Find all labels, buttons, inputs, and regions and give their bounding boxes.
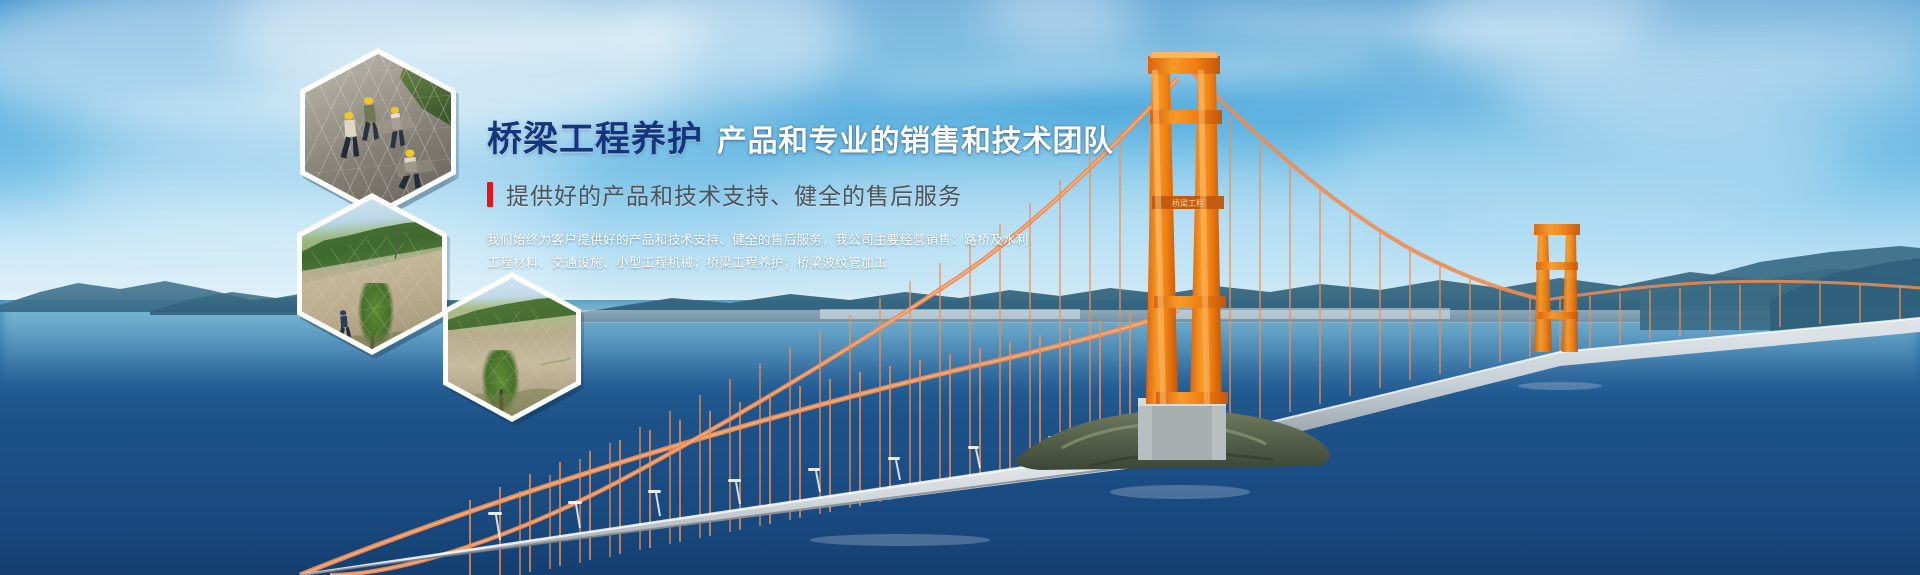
description-line-2: 工程材料、交通设施、小型工程机械；桥梁工程养护；桥梁波纹管加工 bbox=[487, 252, 1107, 275]
description-paragraph: 我们始终为客户提供好的产品和技术支持、健全的售后服务，我公司主要经营销售：路桥及… bbox=[487, 229, 1107, 275]
photo-rockfall-netting-workers bbox=[305, 54, 451, 210]
subheadline-text: 提供好的产品和技术支持、健全的售后服务 bbox=[506, 177, 962, 211]
banner-copy: 桥梁工程养护产品和专业的销售和技术团队 提供好的产品和技术支持、健全的售后服务 … bbox=[487, 122, 1107, 275]
headline: 桥梁工程养护产品和专业的销售和技术团队 bbox=[487, 122, 1107, 157]
hero-banner: 桥梁工程 bbox=[0, 0, 1920, 575]
slope-details bbox=[302, 199, 442, 349]
svg-text:桥梁工程: 桥梁工程 bbox=[1172, 198, 1204, 208]
worker-figures bbox=[305, 54, 451, 210]
gallery-hexagon-2[interactable] bbox=[297, 193, 447, 355]
accent-bar-icon bbox=[487, 182, 493, 207]
photo-slope-protection-mesh bbox=[448, 278, 576, 416]
suspension-bridge: 桥梁工程 bbox=[0, 0, 1920, 575]
description-line-1: 我们始终为客户提供好的产品和技术支持、健全的售后服务，我公司主要经营销售：路桥及… bbox=[487, 229, 1107, 252]
slope-details bbox=[448, 278, 576, 416]
subheadline: 提供好的产品和技术支持、健全的售后服务 bbox=[487, 177, 1107, 211]
gallery-hexagon-3[interactable] bbox=[443, 272, 581, 422]
headline-secondary: 产品和专业的销售和技术团队 bbox=[717, 125, 1114, 158]
headline-primary: 桥梁工程养护 bbox=[487, 120, 703, 159]
gallery-hexagon-1[interactable] bbox=[300, 48, 456, 216]
photo-netted-slope-hillside bbox=[302, 199, 442, 349]
